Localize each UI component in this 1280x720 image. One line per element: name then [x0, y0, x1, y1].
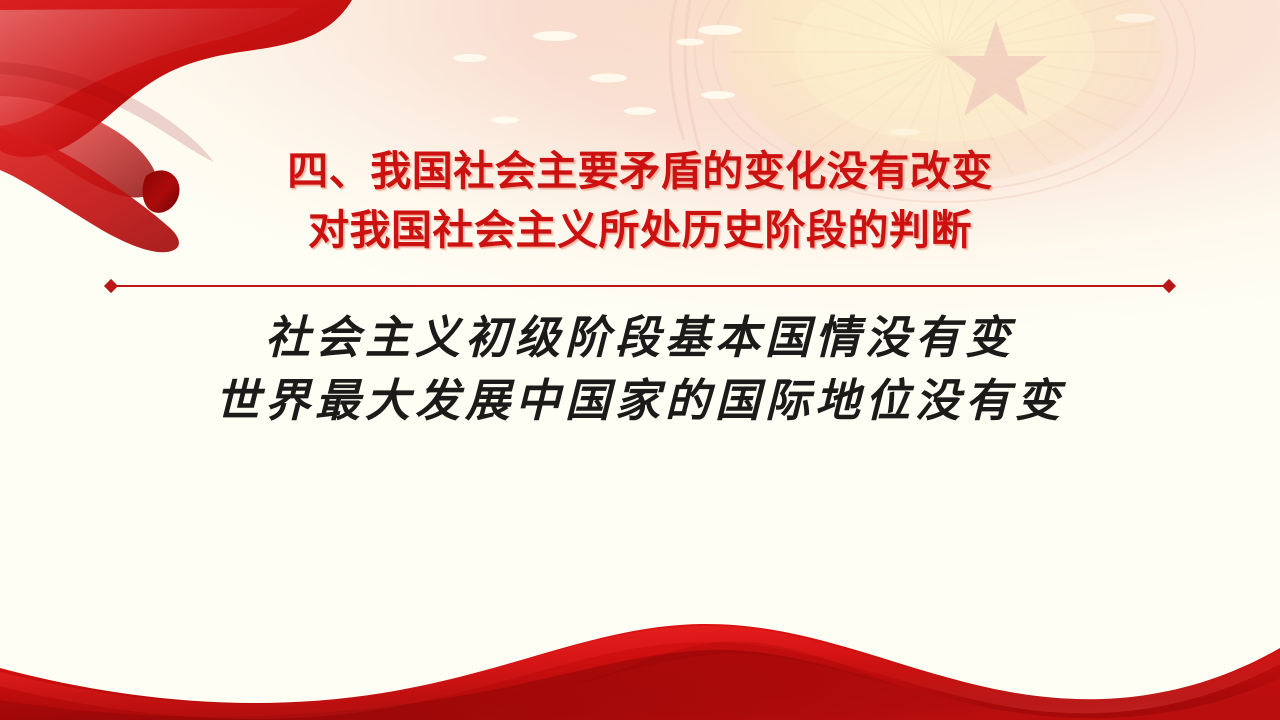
body-text: 社会主义初级阶段基本国情没有变 世界最大发展中国家的国际地位没有变 [0, 306, 1280, 432]
slide-content: 四、我国社会主要矛盾的变化没有改变 对我国社会主义所处历史阶段的判断 社会主义初… [0, 0, 1280, 720]
slide-canvas: 四、我国社会主要矛盾的变化没有改变 对我国社会主义所处历史阶段的判断 社会主义初… [0, 0, 1280, 720]
body-line-2: 世界最大发展中国家的国际地位没有变 [0, 369, 1280, 432]
divider-rule [111, 285, 1169, 287]
title-line-2: 对我国社会主义所处历史阶段的判断 [0, 201, 1280, 260]
title-line-1: 四、我国社会主要矛盾的变化没有改变 [0, 142, 1280, 201]
title-divider [106, 281, 1174, 291]
divider-right-diamond-icon [1162, 279, 1176, 293]
page-title: 四、我国社会主要矛盾的变化没有改变 对我国社会主义所处历史阶段的判断 [0, 142, 1280, 260]
body-line-1: 社会主义初级阶段基本国情没有变 [0, 306, 1280, 369]
